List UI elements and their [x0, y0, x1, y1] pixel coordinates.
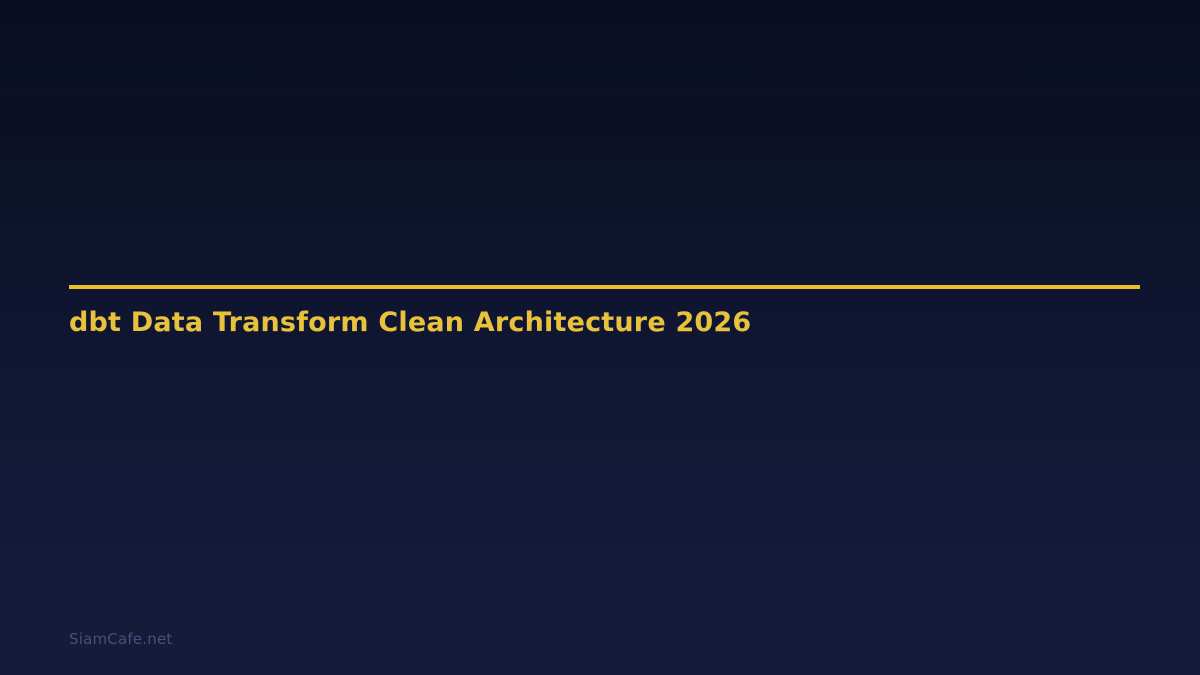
page-title: dbt Data Transform Clean Architecture 20…	[69, 306, 751, 340]
slide-canvas: dbt Data Transform Clean Architecture 20…	[0, 0, 1200, 675]
watermark-label: SiamCafe.net	[69, 629, 172, 649]
title-accent-bar	[69, 285, 1140, 289]
